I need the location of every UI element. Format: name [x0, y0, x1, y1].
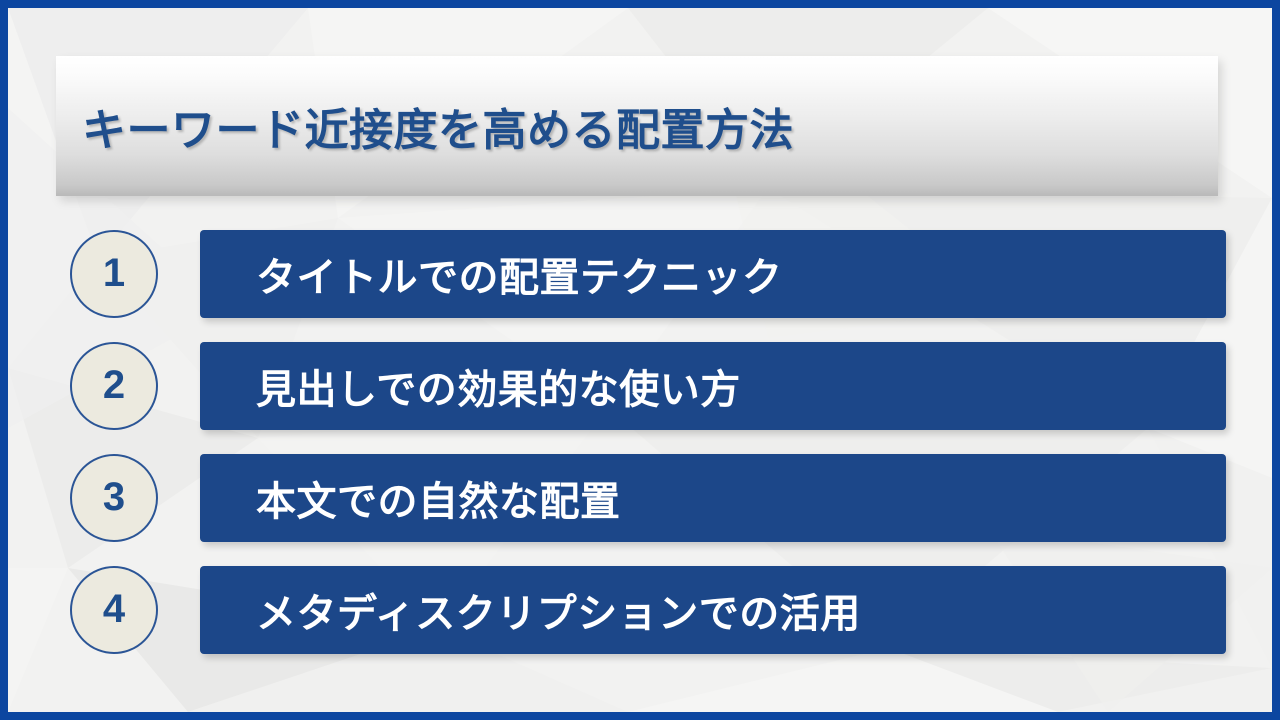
list-item-number-badge: 1	[70, 230, 158, 318]
numbered-list: 1 タイトルでの配置テクニック 2 見出しでの効果的な使い方 3	[56, 230, 1226, 654]
slide-canvas: キーワード近接度を高める配置方法 1 タイトルでの配置テクニック 2 見出しでの…	[8, 8, 1272, 712]
list-item-number-badge: 2	[70, 342, 158, 430]
list-item[interactable]: 1 タイトルでの配置テクニック	[56, 230, 1226, 318]
list-item[interactable]: 4 メタディスクリプションでの活用	[56, 566, 1226, 654]
list-item-number-badge: 3	[70, 454, 158, 542]
page-title: キーワード近接度を高める配置方法	[82, 94, 794, 158]
list-item-bar[interactable]: タイトルでの配置テクニック	[200, 230, 1226, 318]
list-item[interactable]: 2 見出しでの効果的な使い方	[56, 342, 1226, 430]
list-item-label: 見出しでの効果的な使い方	[256, 357, 741, 415]
list-item-bar[interactable]: メタディスクリプションでの活用	[200, 566, 1226, 654]
list-item-number: 3	[103, 477, 125, 517]
list-item-label: メタディスクリプションでの活用	[256, 581, 861, 639]
list-item-bar[interactable]: 見出しでの効果的な使い方	[200, 342, 1226, 430]
list-item-label: タイトルでの配置テクニック	[256, 245, 783, 303]
list-item-bar[interactable]: 本文での自然な配置	[200, 454, 1226, 542]
list-item[interactable]: 3 本文での自然な配置	[56, 454, 1226, 542]
list-item-number: 1	[103, 253, 125, 293]
list-item-number-badge: 4	[70, 566, 158, 654]
list-item-number: 2	[103, 365, 125, 405]
list-item-number: 4	[103, 589, 125, 629]
slide-frame: キーワード近接度を高める配置方法 1 タイトルでの配置テクニック 2 見出しでの…	[0, 0, 1280, 720]
title-bar: キーワード近接度を高める配置方法	[56, 56, 1218, 196]
list-item-label: 本文での自然な配置	[256, 469, 621, 527]
